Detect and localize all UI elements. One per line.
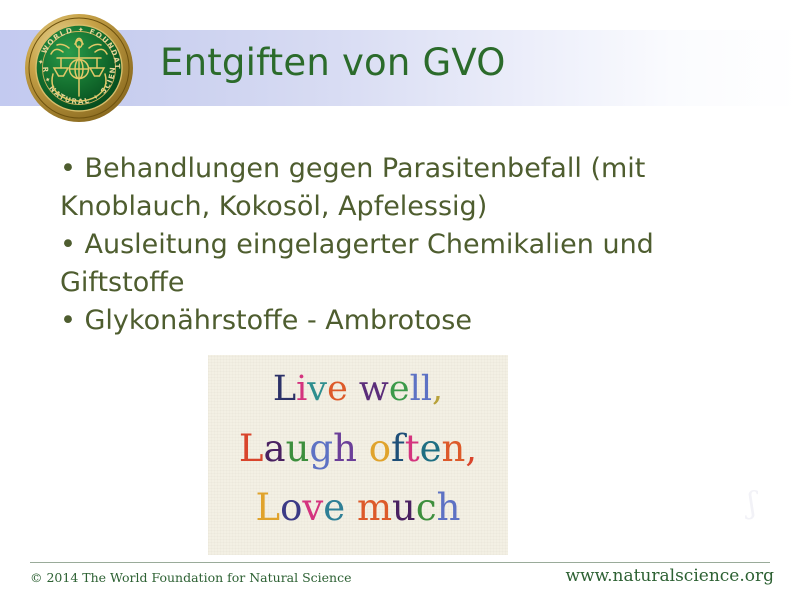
quote-letter: L [239,427,264,470]
watermark-glyph: ʃ [748,487,770,521]
quote-letter: , [465,427,477,470]
footer-website[interactable]: www.naturalscience.org [565,566,774,586]
footer-copyright: © 2014 The World Foundation for Natural … [30,570,352,585]
quote-letter: t [405,427,420,470]
quote-line-1: Live well, [208,369,508,409]
quote-letter: h [437,486,461,529]
bullet-line: Giftstoffe [60,264,660,302]
quote-letter: c [416,486,437,529]
quote-letter: , [432,369,443,409]
quote-letter: L [273,369,296,409]
quote-line-3: Love much [208,486,508,529]
quote-letter: e [389,369,410,409]
quote-letter: l [410,369,421,409]
quote-letter: f [391,427,405,470]
quote-letter [348,369,359,409]
bullet-line: • Glykonährstoffe - Ambrotose [60,302,660,340]
quote-letter: w [359,369,389,409]
presentation-slide: Entgiften von GVO [0,0,800,600]
quote-letter [345,486,357,529]
footer-divider [30,562,770,563]
quote-letter: v [302,486,323,529]
world-foundation-logo: THE ✦ WORLD ✦ FOUNDATION FOR ✦ NATURAL ✦… [23,12,135,124]
quote-letter: n [441,427,465,470]
bullet-list: • Behandlungen gegen Parasitenbefall (mi… [60,150,660,340]
quote-letter: o [369,427,391,470]
bullet-line: Knoblauch, Kokosöl, Apfelessig) [60,188,660,226]
quote-letter: g [309,427,333,470]
quote-letter: v [307,369,327,409]
quote-letter: e [420,427,442,470]
page-title: Entgiften von GVO [160,41,506,84]
quote-letter [357,427,369,470]
quote-line-2: Laugh often, [208,427,508,470]
quote-letter: a [264,427,286,470]
quote-letter: h [333,427,357,470]
bullet-line: • Behandlungen gegen Parasitenbefall (mi… [60,150,660,188]
quote-letter: e [327,369,348,409]
quote-letter: o [280,486,302,529]
bullet-line: • Ausleitung eingelagerter Chemikalien u… [60,226,660,264]
quote-letter: e [323,486,345,529]
quote-letter: i [296,369,307,409]
quote-letter: m [357,486,392,529]
quote-letter: u [286,427,310,470]
quote-letter: l [421,369,432,409]
quote-letter: u [392,486,416,529]
quote-letter: L [256,486,281,529]
quote-image: Live well, Laugh often, Love much [208,355,508,555]
